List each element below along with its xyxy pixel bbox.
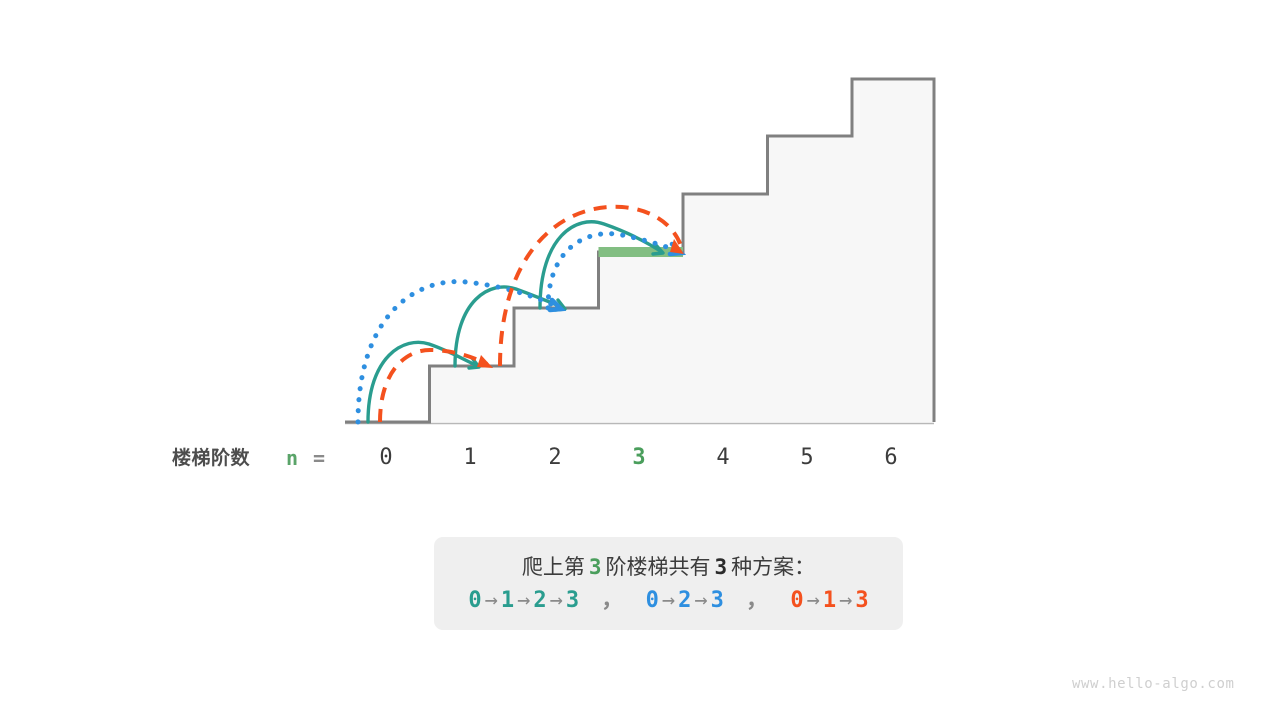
solution-blue-node-0: 0 (646, 588, 659, 613)
caption-middle: 阶楼梯共有 (606, 555, 711, 579)
caption-suffix: 种方案： (731, 555, 815, 579)
arrow-icon: → (836, 588, 855, 613)
arrow-icon: → (482, 588, 501, 613)
solution-teal: 0→1→2→3 (468, 588, 592, 613)
tick-label-2: 2 (535, 445, 575, 471)
caption-solutions-line: 0→1→2→3 ， 0→2→3 ， 0→1→3 (434, 584, 903, 617)
caption-count-number: 3 (711, 555, 732, 579)
arrow-icon: → (691, 588, 710, 613)
solution-teal-node-2: 2 (533, 588, 546, 613)
solution-separator-1: ， (592, 588, 632, 613)
solution-separator-2: ， (737, 588, 777, 613)
arrow-icon: → (514, 588, 533, 613)
solution-teal-node-1: 1 (501, 588, 514, 613)
solution-teal-node-0: 0 (468, 588, 481, 613)
arrow-icon: → (804, 588, 823, 613)
arrowhead-orange-1 (477, 355, 493, 368)
tick-label-1: 1 (450, 445, 490, 471)
tick-label-3: 3 (619, 445, 659, 471)
solution-orange-node-2: 3 (855, 588, 868, 613)
tick-label-6: 6 (871, 445, 911, 471)
axis-equals-sign: = (313, 445, 325, 471)
arrow-icon: → (547, 588, 566, 613)
solution-blue-node-2: 3 (711, 588, 724, 613)
caption-step-number: 3 (585, 555, 606, 579)
watermark: www.hello-algo.com (1072, 676, 1235, 692)
solution-blue: 0→2→3 (632, 588, 737, 613)
figure-stage: 楼梯阶数 n = 0 1 2 3 4 5 6 爬上第3阶楼梯共有3种方案： 0→… (0, 0, 1280, 720)
caption-prefix: 爬上第 (522, 555, 585, 579)
caption-summary-line: 爬上第3阶楼梯共有3种方案： (434, 551, 903, 584)
solution-orange-node-1: 1 (823, 588, 836, 613)
solution-blue-node-1: 2 (678, 588, 691, 613)
tick-label-4: 4 (703, 445, 743, 471)
tick-label-0: 0 (366, 445, 406, 471)
arrow-icon: → (659, 588, 678, 613)
solution-orange-node-0: 0 (790, 588, 803, 613)
solution-teal-node-3: 3 (566, 588, 579, 613)
axis-title: 楼梯阶数 (172, 445, 250, 471)
axis-label-row: 楼梯阶数 n = 0 1 2 3 4 5 6 (0, 445, 1280, 479)
tick-label-5: 5 (787, 445, 827, 471)
axis-variable: n (286, 445, 298, 471)
solution-orange: 0→1→3 (777, 588, 869, 613)
caption-box: 爬上第3阶楼梯共有3种方案： 0→1→2→3 ， 0→2→3 ， 0→1→3 (434, 537, 903, 630)
